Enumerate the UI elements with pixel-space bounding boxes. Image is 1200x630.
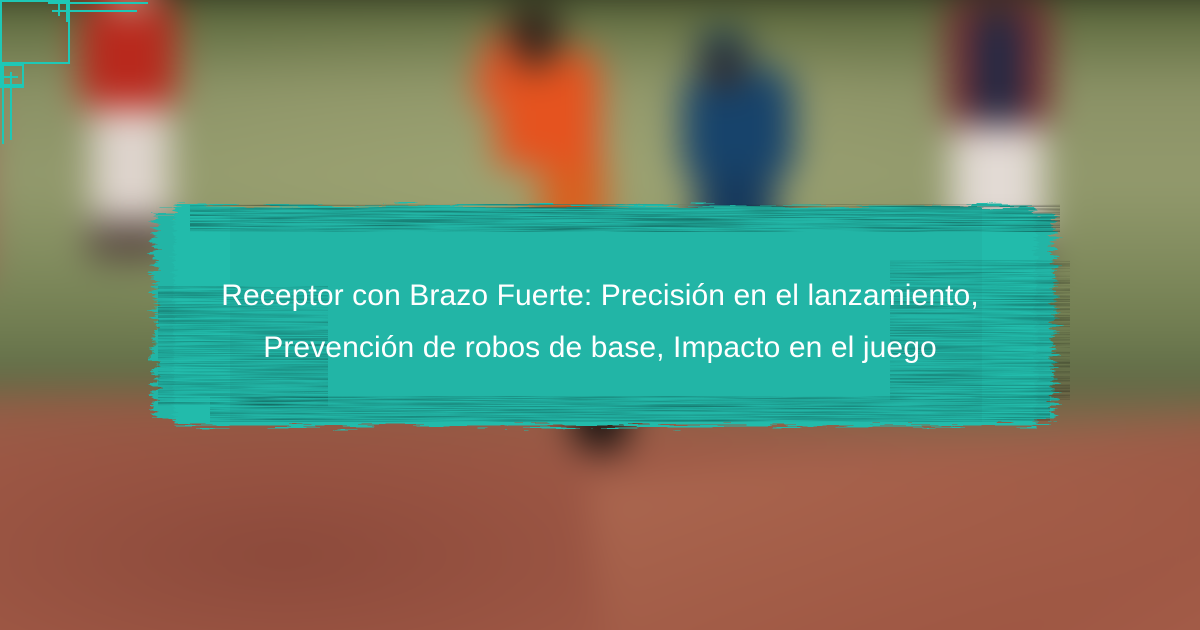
title-banner: Receptor con Brazo Fuerte: Precisión en … (120, 190, 1080, 440)
player-left-torso (80, 0, 176, 108)
corner-line-right-2 (58, 0, 60, 16)
corner-line-bottom-1 (0, 84, 22, 86)
title-line-2: Prevención de robos de base, Impacto en … (263, 325, 937, 371)
title-text-block: Receptor con Brazo Fuerte: Precisión en … (120, 190, 1080, 440)
player-navy-cap (696, 32, 750, 58)
player-pitcher-torso (496, 48, 600, 168)
social-card: Receptor con Brazo Fuerte: Precisión en … (0, 0, 1200, 630)
player-right-jersey-panel (974, 12, 1022, 124)
corner-decoration-bottom-right (0, 0, 70, 88)
corner-line-bottom-2 (0, 76, 18, 78)
title-line-1: Receptor con Brazo Fuerte: Precisión en … (221, 273, 979, 319)
corner-line-right-1 (66, 0, 68, 22)
